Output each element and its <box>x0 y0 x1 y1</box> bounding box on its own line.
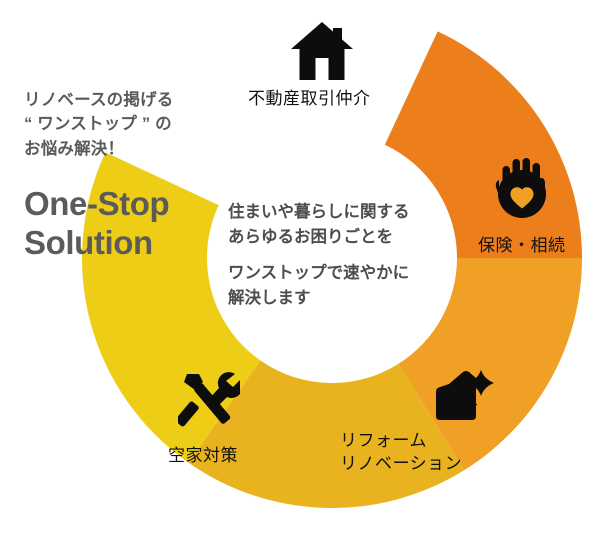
segment-label-insurance-inheritance[interactable]: 保険・相続 <box>478 235 566 258</box>
house-icon <box>291 22 353 80</box>
center-paragraph-spacer <box>228 250 443 261</box>
headline-block: リノベースの掲げる “ ワンストップ ” の お悩み解決！ One-Stop S… <box>24 88 234 262</box>
segment-label-reform-renovation-line1: リフォーム <box>340 430 462 453</box>
sparkle-house-icon <box>430 370 494 422</box>
page-title: One-Stop Solution <box>24 185 234 262</box>
lead-line-3: お悩み解決！ <box>24 137 234 161</box>
hand-heart-icon <box>495 158 549 220</box>
page-title-line-1: One-Stop <box>24 185 234 224</box>
center-para1-line1: 住まいや暮らしに関する <box>228 200 443 225</box>
lead-line-1: リノベースの掲げる <box>24 88 234 112</box>
center-para2-line1: ワンストップで速やかに <box>228 261 443 286</box>
segment-label-reform-renovation[interactable]: リフォーム リノベーション <box>340 430 462 476</box>
lead-line-2: “ ワンストップ ” の <box>24 112 234 136</box>
center-para1-line2: あらゆるお困りごとを <box>228 225 443 250</box>
center-para2-line2: 解決します <box>228 286 443 311</box>
segment-label-real-estate[interactable]: 不動産取引仲介 <box>248 88 371 111</box>
center-description: 住まいや暮らしに関する あらゆるお困りごとを ワンストップで速やかに 解決します <box>228 200 443 311</box>
segment-label-vacant-house[interactable]: 空家対策 <box>168 445 238 468</box>
hammer-wrench-icon <box>178 372 240 428</box>
segment-label-reform-renovation-line2: リノベーション <box>340 453 462 476</box>
infographic-canvas: リノベースの掲げる “ ワンストップ ” の お悩み解決！ One-Stop S… <box>0 0 600 533</box>
page-title-line-2: Solution <box>24 224 234 263</box>
